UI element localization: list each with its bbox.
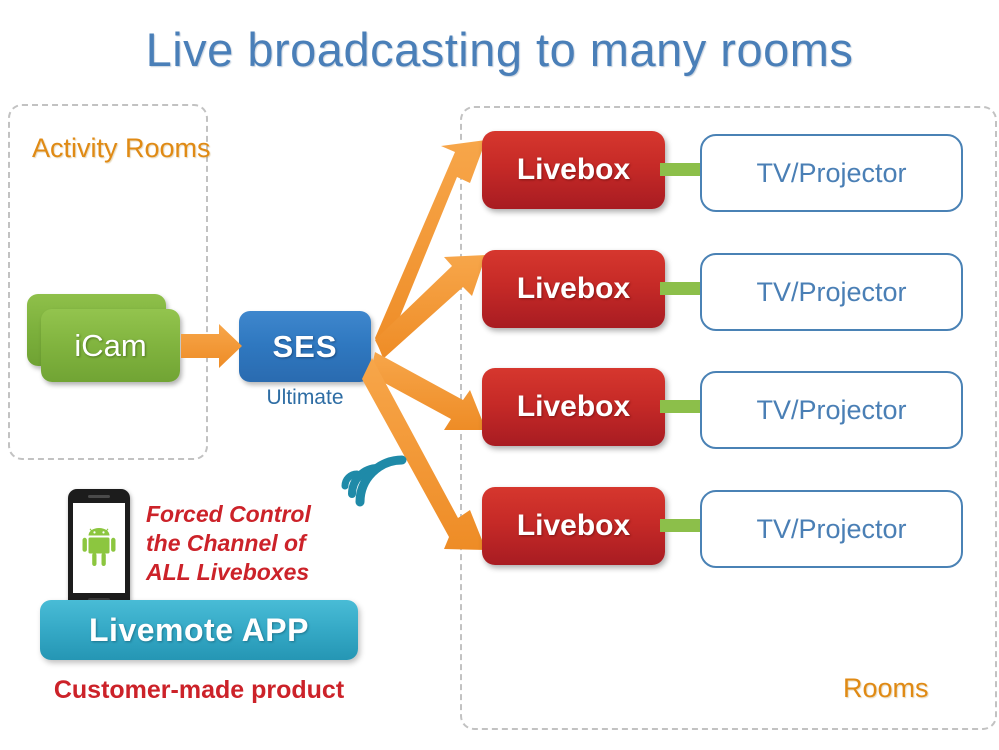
livebox-label: Livebox — [517, 272, 630, 306]
tv-projector-2[interactable]: TV/Projector — [700, 253, 963, 331]
activity-rooms-label: Activity Rooms — [32, 133, 211, 164]
tv-projector-label: TV/Projector — [756, 158, 906, 189]
note-line-1: Forced Control — [146, 500, 356, 529]
livebox-4[interactable]: Livebox — [482, 487, 665, 565]
note-line-2: the Channel of — [146, 529, 356, 558]
livebox-label: Livebox — [517, 153, 630, 187]
phone-screen — [73, 503, 125, 593]
ses-label: SES — [272, 329, 337, 365]
icam-label: iCam — [74, 328, 146, 364]
ses-sublabel: Ultimate — [239, 386, 371, 410]
livebox-3[interactable]: Livebox — [482, 368, 665, 446]
tv-projector-label: TV/Projector — [756, 514, 906, 545]
note-line-3: ALL Liveboxes — [146, 558, 356, 587]
diagram-canvas: Live broadcasting to many rooms Activity… — [0, 0, 999, 750]
customer-made-caption: Customer-made product — [40, 676, 358, 705]
tv-projector-3[interactable]: TV/Projector — [700, 371, 963, 449]
livebox-label: Livebox — [517, 509, 630, 543]
tv-projector-label: TV/Projector — [756, 277, 906, 308]
rooms-label: Rooms — [843, 673, 929, 704]
livemote-app-label: Livemote APP — [89, 612, 309, 649]
phone-speaker-icon — [88, 495, 110, 498]
livebox-1[interactable]: Livebox — [482, 131, 665, 209]
wifi-signal-icon — [345, 460, 402, 502]
tv-projector-4[interactable]: TV/Projector — [700, 490, 963, 568]
ses-server-box[interactable]: SES — [239, 311, 371, 382]
forced-control-note: Forced Control the Channel of ALL Livebo… — [146, 500, 356, 587]
livemote-app-box[interactable]: Livemote APP — [40, 600, 358, 660]
android-robot-icon — [81, 527, 117, 569]
tv-projector-1[interactable]: TV/Projector — [700, 134, 963, 212]
tv-projector-label: TV/Projector — [756, 395, 906, 426]
page-title: Live broadcasting to many rooms — [0, 22, 999, 77]
livebox-label: Livebox — [517, 390, 630, 424]
livebox-2[interactable]: Livebox — [482, 250, 665, 328]
icam-card-front[interactable]: iCam — [41, 309, 180, 382]
